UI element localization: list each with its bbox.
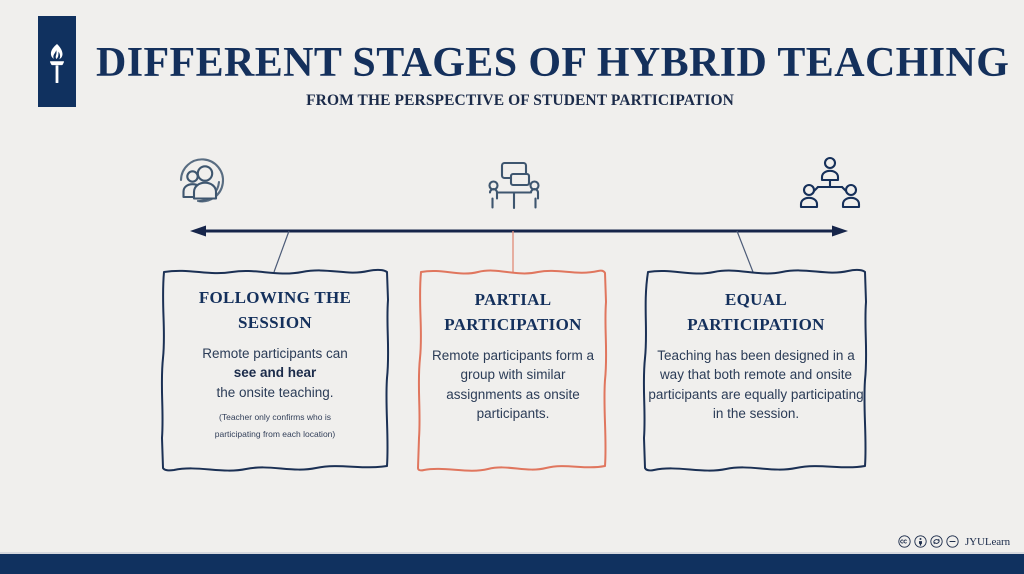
stage-2-body: Remote participants form a group with si…: [422, 346, 604, 423]
stages-diagram: [0, 0, 1024, 574]
cc-by-icon: [914, 535, 927, 548]
stage-1-body-emphasis: see and hear: [234, 365, 317, 380]
group-at-table-icon: [490, 163, 539, 208]
torch-icon: [38, 16, 76, 107]
stage-1-title: FOLLOWING THE SESSION: [164, 286, 386, 335]
connector-line-3: [737, 231, 753, 272]
page-title: DIFFERENT STAGES OF HYBRID TEACHING: [96, 41, 944, 85]
stage-1-note: (Teacher only confirms who is participat…: [164, 409, 386, 443]
stage-3-body: Teaching has been designed in a way that…: [648, 346, 864, 423]
footer-bar: [0, 554, 1024, 574]
jyu-torch-logo: [38, 16, 76, 107]
stage-1-body: Remote participants can see and hear the…: [164, 344, 386, 401]
stage-1-content: FOLLOWING THE SESSION Remote participant…: [164, 286, 386, 443]
cc-nd-icon: [946, 535, 959, 548]
stage-3-content: EQUAL PARTICIPATION Teaching has been de…: [648, 288, 864, 423]
two-people-in-circle-icon: [181, 159, 223, 201]
cc-sa-icon: [930, 535, 943, 548]
stage-2-content: PARTIAL PARTICIPATION Remote participant…: [422, 288, 604, 423]
license-block[interactable]: JYULearn: [898, 535, 1010, 548]
license-text: JYULearn: [965, 536, 1010, 548]
page-subtitle: FROM THE PERSPECTIVE OF STUDENT PARTICIP…: [96, 92, 944, 110]
stage-3-title: EQUAL PARTICIPATION: [648, 288, 864, 337]
connector-line-1: [274, 231, 289, 272]
timeline-arrow: [190, 226, 848, 237]
stage-2-title: PARTIAL PARTICIPATION: [422, 288, 604, 337]
connected-team-icon: [801, 158, 859, 207]
slide-canvas: DIFFERENT STAGES OF HYBRID TEACHING FROM…: [0, 0, 1024, 574]
creative-commons-icon: [898, 535, 911, 548]
